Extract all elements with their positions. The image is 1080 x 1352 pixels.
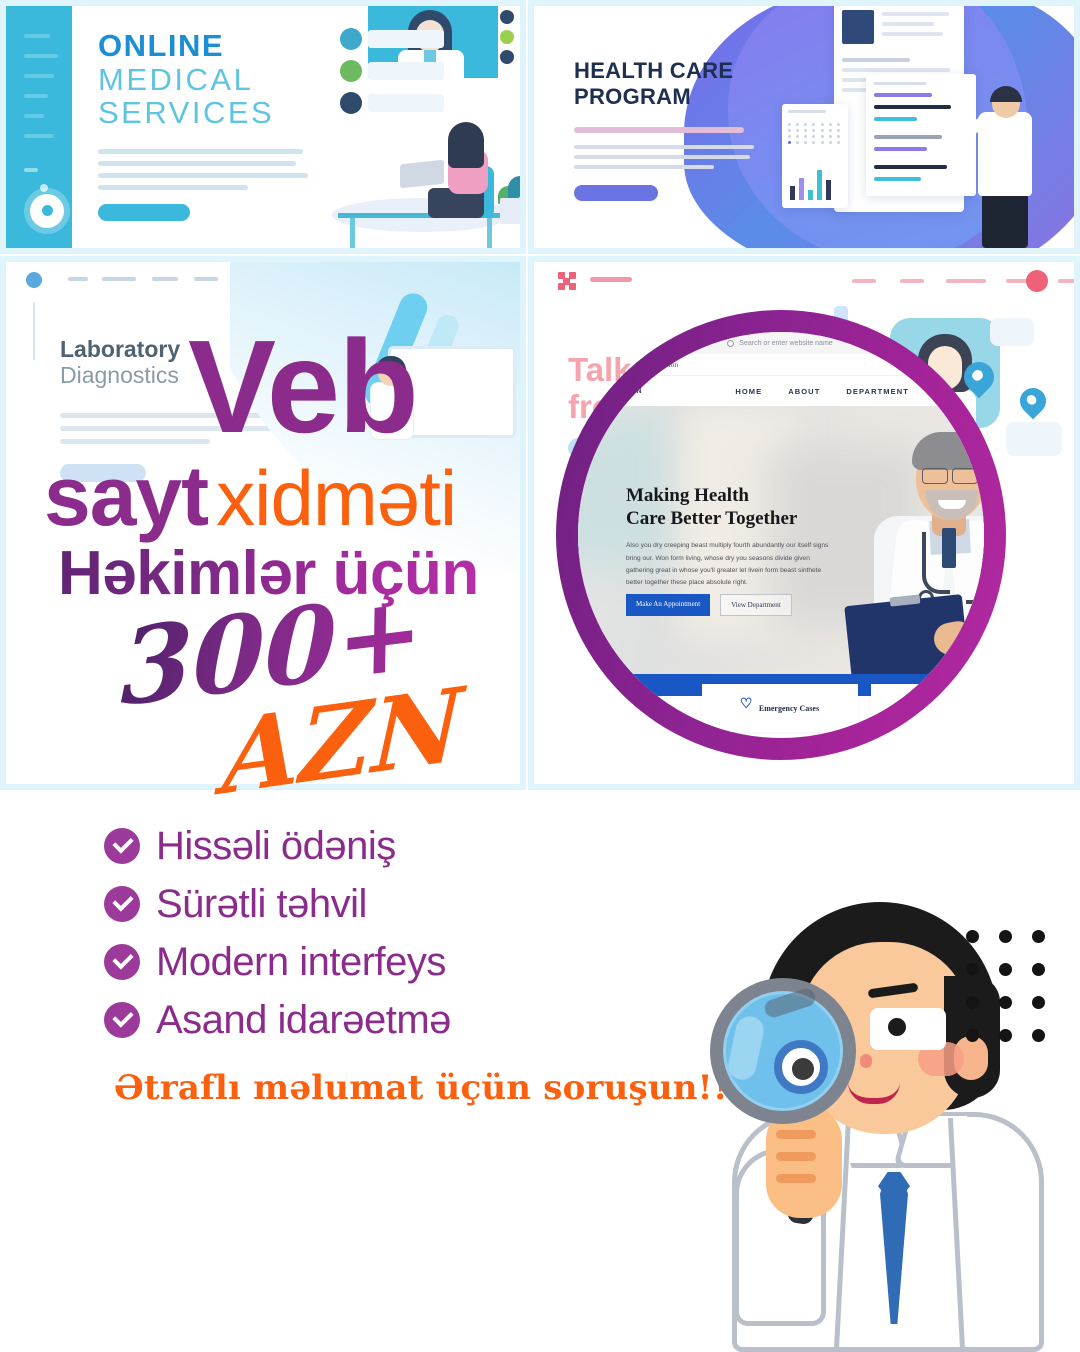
hero-title-line2: Care Better Together [626, 508, 797, 529]
headline-sayt: sayt [44, 449, 208, 543]
site-main-nav: ON HOME ABOUT DEPARTMENT DOCTORS [578, 376, 984, 406]
headline-veb: Veb [188, 328, 417, 447]
mockup-health-care: HEALTH CARE PROGRAM [528, 0, 1080, 254]
chart-card [782, 104, 848, 208]
site-topbar: Find our Location [578, 354, 984, 376]
checklist-label: Modern interfeys [156, 942, 446, 982]
mockup-hero-text: HEALTH CARE PROGRAM [574, 58, 804, 201]
card-label: Online [946, 704, 969, 713]
heart-icon [741, 702, 753, 714]
mockup-cta-button[interactable] [574, 185, 658, 201]
browser-window: Search or enter website name Find our Lo… [578, 332, 984, 738]
checklist-label: Hissəli ödəniş [156, 826, 396, 866]
mockup-online-medical: ONLINE MEDICAL SERVICES [0, 0, 526, 254]
nav-item-doctors[interactable]: DOCTORS [935, 387, 980, 396]
nav-item-home[interactable]: HOME [735, 387, 762, 396]
doctor-figure [964, 88, 1044, 248]
site-hero: Making Health Care Better Together Also … [578, 406, 984, 674]
glasses-icon [870, 1008, 946, 1050]
checklist-item-asand-idareetme: Asand idarəetmə [104, 1000, 451, 1040]
call-to-action-tagline: Ətraflı məlumat üçün soruşun!! [114, 1068, 728, 1108]
location-label[interactable]: Find our Location [624, 360, 678, 369]
headline-xidmeti: xidməti [216, 454, 456, 542]
mockup-title-line2: PROGRAM [574, 84, 804, 110]
mockup-cta-button[interactable] [98, 204, 190, 221]
headline-row-2: saytxidməti [44, 448, 456, 545]
nav-item-about[interactable]: ABOUT [788, 387, 820, 396]
site-hero-text: Making Health Care Better Together Also … [626, 484, 836, 589]
brand-logo-icon [558, 272, 580, 290]
view-department-button[interactable]: View Department [720, 594, 792, 616]
url-placeholder: Search or enter website name [739, 340, 832, 347]
site-brand: ON [630, 388, 643, 395]
nav-item-department[interactable]: DEPARTMENT [846, 387, 909, 396]
hero-title-line1: Making Health [626, 485, 749, 506]
mockup-illustration [330, 6, 520, 248]
mockup-title-line1: HEALTH CARE [574, 58, 804, 84]
avatar[interactable] [1026, 270, 1048, 292]
checklist-item-hisseli-odenis: Hissəli ödəniş [104, 826, 451, 866]
phone-button-icon[interactable] [30, 194, 64, 228]
card-online[interactable]: Online [871, 684, 984, 732]
mockup-body-placeholder [574, 145, 804, 169]
headset-icon [928, 702, 940, 714]
decorative-dots [966, 930, 1045, 1042]
search-icon [727, 340, 734, 347]
check-circle-icon [104, 828, 140, 864]
checklist-item-suretli-tehvil: Sürətli təhvil [104, 884, 451, 924]
circle-site-preview: Search or enter website name Find our Lo… [556, 310, 1006, 760]
browser-url-bar[interactable]: Search or enter website name [578, 332, 984, 354]
doctor-illustration [712, 890, 1080, 1350]
mockup-float-icons [500, 10, 514, 70]
make-appointment-button[interactable]: Make An Appointment [626, 594, 710, 616]
card-emergency-cases[interactable]: Emergency Cases [702, 684, 857, 732]
check-circle-icon [104, 1002, 140, 1038]
mockup-sidebar [6, 6, 72, 248]
card-label: Emergency Cases [759, 704, 819, 713]
check-circle-icon [104, 886, 140, 922]
doctor-photo [856, 424, 984, 674]
check-circle-icon [104, 944, 140, 980]
site-feature-cards: Emergency Cases Online [578, 684, 984, 732]
checklist-item-modern-interfeys: Modern interfeys [104, 942, 451, 982]
checklist-label: Sürətli təhvil [156, 884, 367, 924]
checklist-label: Asand idarəetmə [156, 1000, 451, 1040]
hero-paragraph: Also you dry creeping beast multiply fou… [626, 540, 836, 589]
feature-checklist: Hissəli ödəniş Sürətli təhvil Modern int… [104, 826, 451, 1058]
site-hero-buttons: Make An Appointment View Department [626, 594, 792, 616]
